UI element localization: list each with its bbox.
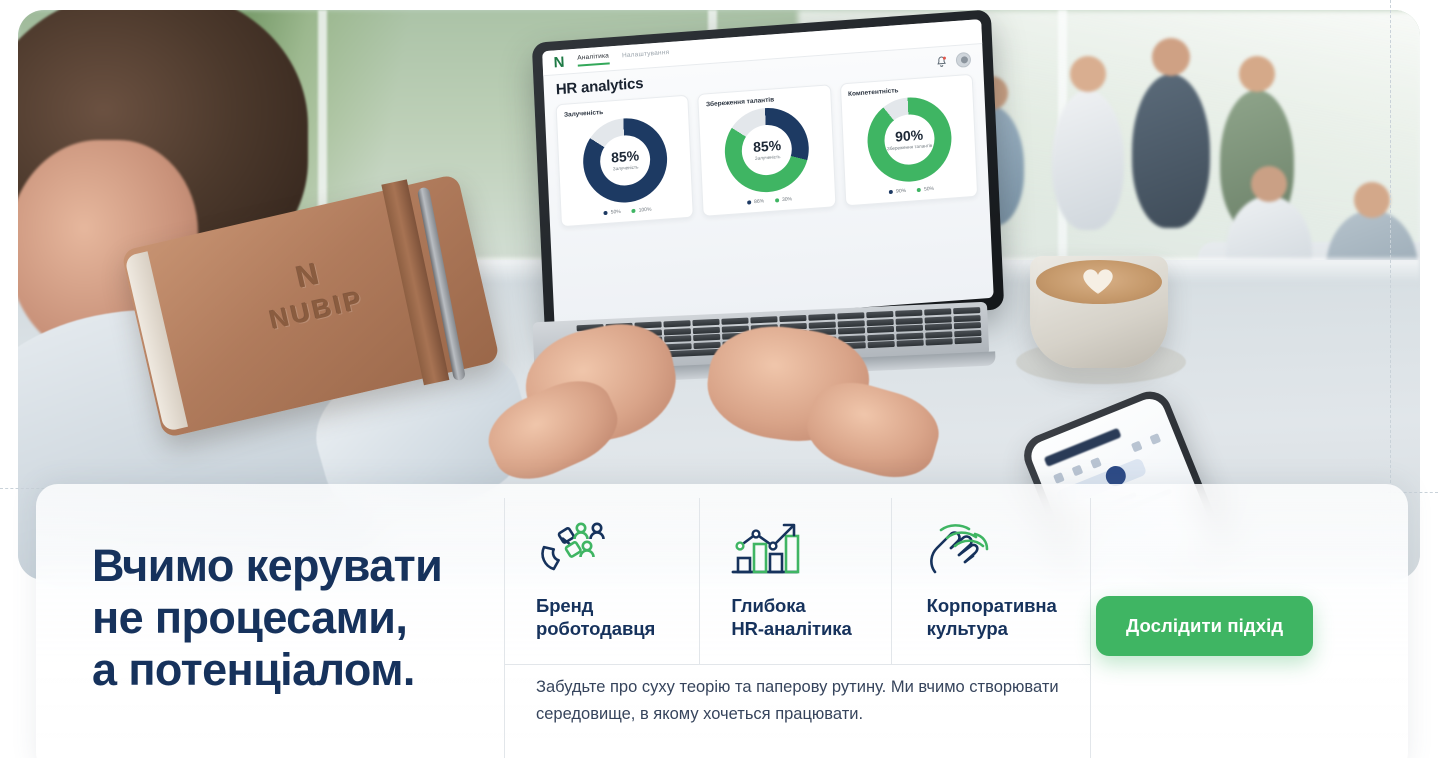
feature-list: Бренд роботодавця [506, 496, 1092, 664]
legend-item: 50% [917, 186, 934, 193]
donut-center-label: Залученість [755, 154, 781, 161]
feature-card-hr-analytics[interactable]: Глибока HR-аналітика [701, 496, 896, 664]
legend-item: 86% [747, 198, 764, 205]
legend-item: 50% [604, 209, 621, 216]
background-person [1052, 90, 1124, 230]
hero-description: Забудьте про суху теорію та паперову рут… [536, 674, 1116, 727]
feature-label-line: культура [927, 617, 1076, 640]
legend-item: 30% [775, 196, 792, 203]
feature-label: Глибока HR-аналітика [731, 594, 880, 641]
legend-item: 100% [632, 207, 652, 214]
avatar[interactable] [956, 52, 972, 68]
divider [504, 498, 505, 758]
hero-content-panel: Вчимо керувати не процесами, а потенціал… [36, 484, 1408, 758]
chart-legend: 90% 50% [852, 183, 970, 198]
bar-chart-growth-icon [731, 518, 880, 580]
magnet-people-icon [536, 518, 685, 580]
feature-label: Бренд роботодавця [536, 594, 685, 641]
notebook-logo: Ν NUBIP [218, 242, 408, 346]
legend-item: 90% [889, 188, 906, 195]
coffee-cup [1030, 256, 1168, 368]
feature-label-line: роботодавця [536, 617, 685, 640]
feature-label-line: Корпоративна [927, 594, 1076, 617]
kpi-card: Збереження талантів 85% Залученість 86% … [698, 84, 837, 217]
bell-icon[interactable] [936, 55, 948, 68]
helping-hands-icon [927, 518, 1076, 580]
donut-center-value: 85% [753, 138, 782, 154]
headline-line: не процесами, [92, 592, 492, 644]
hero-section: Ν NUBIP [0, 0, 1438, 758]
donut-center-label: Збереження талантів [887, 143, 933, 152]
feature-label-line: HR-аналітика [731, 617, 880, 640]
donut-center-label: Залученість [613, 165, 639, 172]
chart-legend: 86% 30% [710, 194, 828, 209]
feature-label-line: Бренд [536, 594, 685, 617]
headline-line: Вчимо керувати [92, 540, 492, 592]
feature-label-line: Глибока [731, 594, 880, 617]
donut-center-value: 85% [611, 149, 640, 165]
divider [504, 664, 1090, 665]
kpi-card: Компетентність 90% Збереження талантів 9… [840, 74, 979, 207]
headline-line: а потенціалом. [92, 644, 492, 696]
kpi-card: Залученість 85% Залученість 50% 100% [556, 95, 695, 228]
laptop-lid: Ν Аналітика Налаштування HR analytics [532, 10, 1005, 343]
donut-chart: 90% Збереження талантів [865, 95, 953, 185]
donut-chart: 85% Залученість [723, 105, 811, 195]
explore-approach-button[interactable]: Дослідити підхід [1096, 596, 1313, 656]
feature-card-corporate-culture[interactable]: Корпоративна культура [897, 496, 1092, 664]
background-person [1132, 74, 1210, 228]
dashboard-tab-analytics[interactable]: Аналітика [577, 52, 609, 66]
dashboard-logo-icon: Ν [553, 54, 564, 70]
donut-chart: 85% Залученість [581, 115, 669, 205]
feature-card-employer-brand[interactable]: Бренд роботодавця [506, 496, 701, 664]
donut-center-value: 90% [895, 128, 924, 144]
feature-label: Корпоративна культура [927, 594, 1076, 641]
dashboard-tab-settings[interactable]: Налаштування [622, 49, 670, 62]
chart-legend: 50% 100% [568, 204, 686, 219]
page-title: Вчимо керувати не процесами, а потенціал… [92, 540, 492, 697]
phone-app-title [1044, 428, 1122, 467]
laptop-screen: Ν Аналітика Налаштування HR analytics [542, 19, 994, 330]
